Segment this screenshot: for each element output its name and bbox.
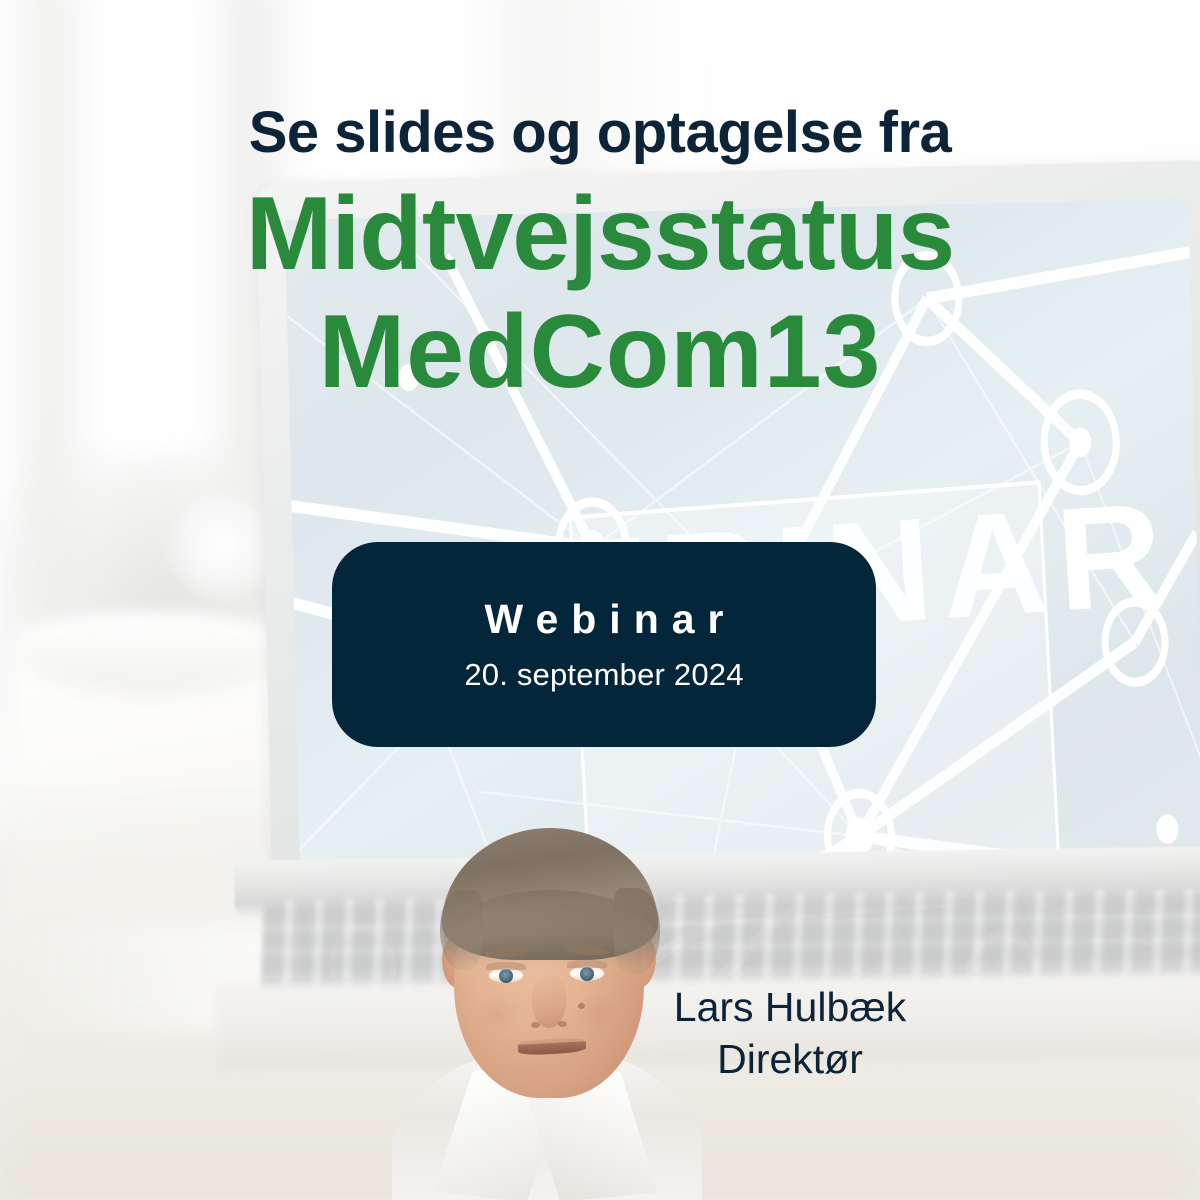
- headline-kicker: Se slides og optagelse fra: [0, 104, 1200, 162]
- headline-block: Se slides og optagelse fra Midtvejsstatu…: [0, 0, 1200, 406]
- portrait-chin: [510, 1064, 594, 1090]
- headline-title: Midtvejsstatus MedCom13: [0, 180, 1200, 406]
- portrait-nostril-left: [531, 1022, 540, 1028]
- portrait-eye-left: [489, 968, 523, 983]
- badge-label: Webinar: [472, 596, 737, 643]
- speaker-caption: Lars Hulbæk Direktør: [620, 985, 960, 1083]
- portrait-cheek-left: [476, 996, 520, 1032]
- webinar-badge: Webinar 20. september 2024: [332, 542, 876, 747]
- portrait-cheek-right: [576, 994, 620, 1030]
- portrait-hair-temple-right: [614, 888, 660, 974]
- portrait-iris-left: [499, 969, 513, 983]
- webinar-promo-poster: WEBINAR Se slides og optagelse fra Midtv…: [0, 0, 1200, 1200]
- headline-title-line-1: Midtvejsstatus: [246, 176, 954, 292]
- portrait-iris-right: [580, 967, 594, 981]
- badge-date: 20. september 2024: [464, 657, 743, 693]
- portrait-mole: [578, 1003, 585, 1009]
- portrait-eyelid-right: [567, 960, 607, 968]
- portrait-nostril-right: [558, 1021, 567, 1027]
- background-light-bokeh: [168, 492, 276, 600]
- portrait-eyelid-left: [486, 962, 526, 970]
- speaker-role: Direktør: [620, 1037, 960, 1083]
- background-cup-rim: [18, 612, 282, 696]
- portrait-eye-right: [570, 966, 604, 981]
- speaker-name: Lars Hulbæk: [620, 985, 960, 1031]
- portrait-hair-temple-left: [440, 890, 482, 970]
- headline-title-line-2: MedCom13: [0, 298, 1200, 406]
